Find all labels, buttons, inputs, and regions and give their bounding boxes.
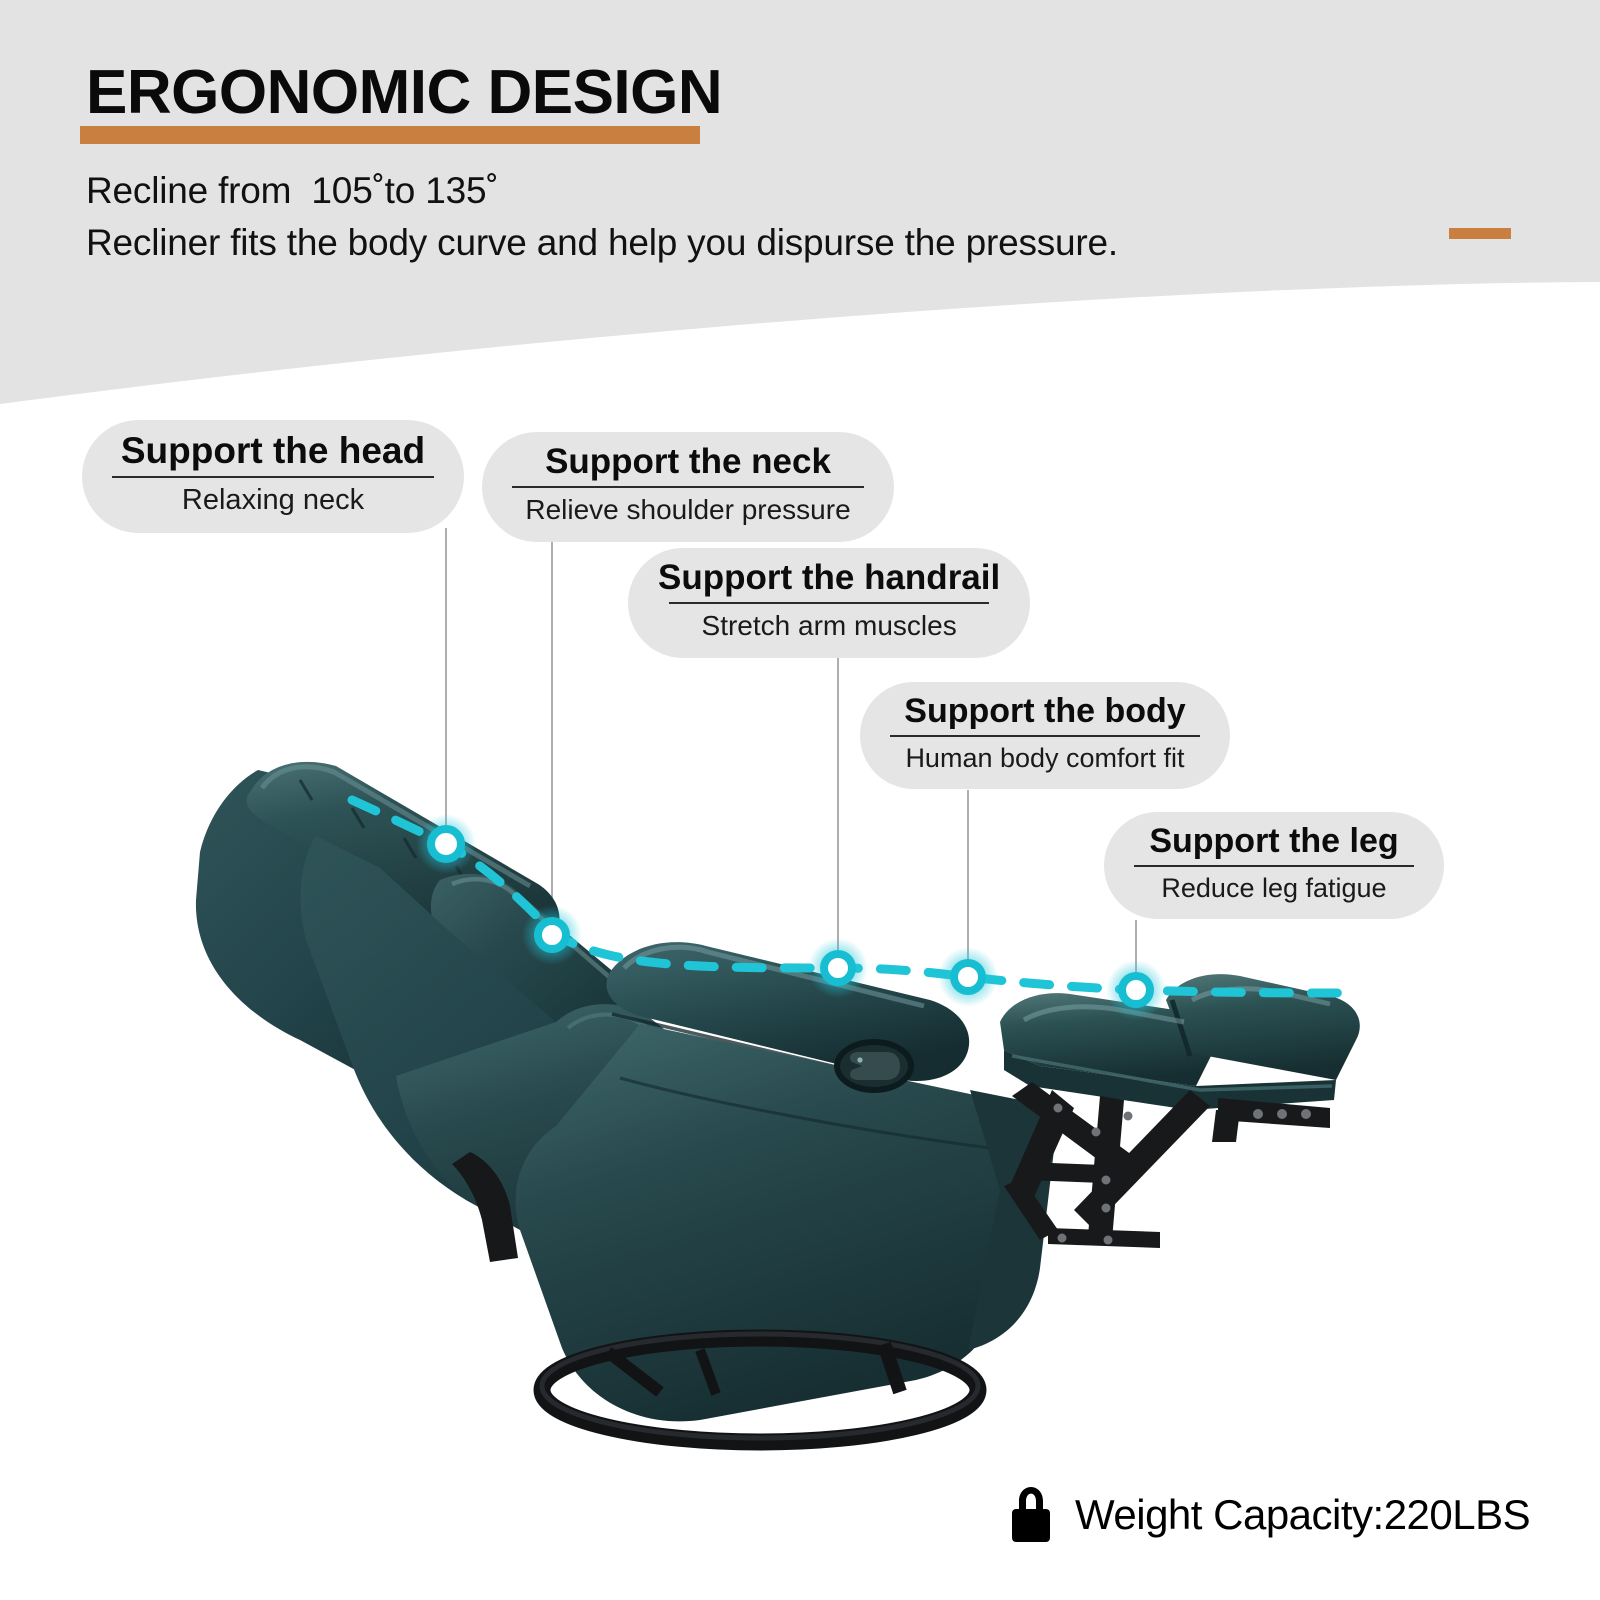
callout-title: Support the handrail: [658, 558, 1000, 597]
support-dot-neck: [522, 905, 582, 965]
recliner-illustration: [0, 0, 1600, 1600]
callout-divider: [512, 486, 864, 488]
callout-divider: [890, 735, 1200, 737]
callout-support-neck[interactable]: Support the neck Relieve shoulder pressu…: [482, 432, 894, 542]
callout-divider: [1134, 865, 1414, 867]
callout-title: Support the head: [112, 430, 434, 471]
callout-support-leg[interactable]: Support the leg Reduce leg fatigue: [1104, 812, 1444, 919]
callout-title: Support the neck: [512, 442, 864, 481]
lock-icon: [1005, 1484, 1057, 1546]
callout-subtitle: Relieve shoulder pressure: [512, 494, 864, 525]
callout-divider: [669, 602, 989, 604]
weight-capacity-label: Weight Capacity:220LBS: [1075, 1491, 1530, 1539]
support-dot-handrail: [808, 938, 868, 998]
callout-support-head[interactable]: Support the head Relaxing neck: [82, 420, 464, 533]
callout-title: Support the body: [890, 692, 1200, 730]
callout-subtitle: Relaxing neck: [112, 484, 434, 516]
support-dot-leg: [1106, 960, 1166, 1020]
callout-subtitle: Stretch arm muscles: [658, 610, 1000, 641]
support-dot-head: [416, 814, 476, 874]
callout-support-body[interactable]: Support the body Human body comfort fit: [860, 682, 1230, 789]
footrest-mechanism: [1004, 1082, 1330, 1248]
callout-support-handrail[interactable]: Support the handrail Stretch arm muscles: [628, 548, 1030, 658]
callout-title: Support the leg: [1134, 822, 1414, 860]
callout-divider: [112, 476, 434, 478]
support-dot-body: [938, 947, 998, 1007]
callout-subtitle: Human body comfort fit: [890, 743, 1200, 773]
callout-subtitle: Reduce leg fatigue: [1134, 873, 1414, 903]
recline-release-handle[interactable]: [834, 1039, 914, 1093]
weight-capacity-badge: Weight Capacity:220LBS: [1005, 1484, 1530, 1546]
